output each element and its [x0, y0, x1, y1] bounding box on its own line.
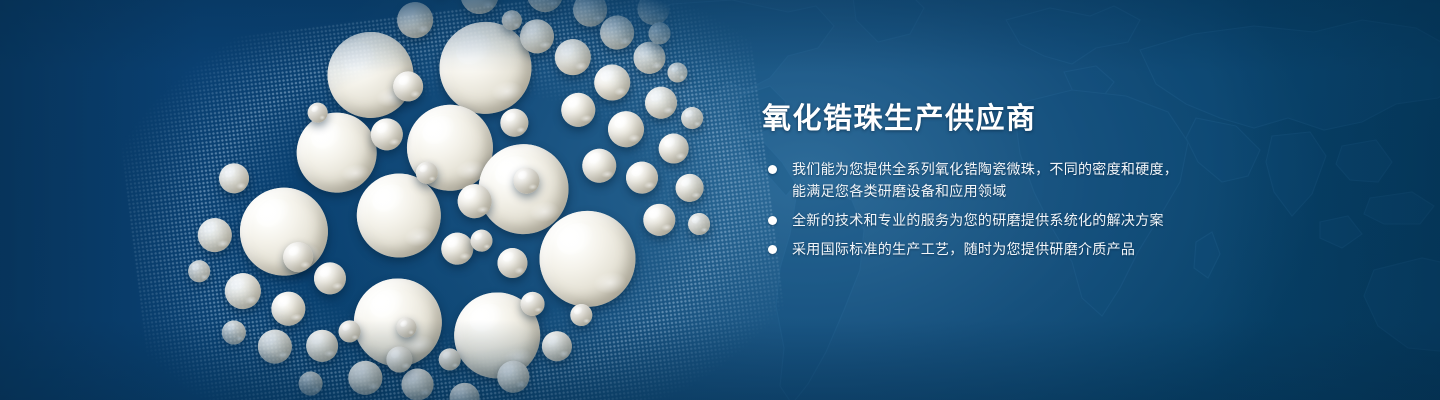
bead [687, 212, 712, 237]
bead [666, 61, 688, 83]
product-hero-banner: 氧化锆珠生产供应商 我们能为您提供全系列氧化锆陶瓷微珠，不同的密度和硬度， 能满… [0, 0, 1440, 400]
bead [553, 37, 593, 77]
banner-copy: 氧化锆珠生产供应商 我们能为您提供全系列氧化锆陶瓷微珠，不同的密度和硬度， 能满… [762, 104, 1382, 267]
bead [256, 328, 294, 366]
bead [540, 330, 573, 363]
bead [400, 367, 436, 400]
bullet-dot-icon [768, 216, 777, 225]
bead [297, 370, 324, 397]
bead [680, 106, 705, 131]
bead [395, 0, 435, 40]
bullet-dot-icon [768, 165, 777, 174]
bullet-line: 全新的技术和专业的服务为您的研磨提供系统化的解决方案 [792, 209, 1382, 231]
bead [606, 109, 646, 149]
bullet-line: 能满足您各类研磨设备和应用领域 [792, 180, 1382, 202]
bead [624, 160, 660, 196]
bead [304, 328, 340, 364]
bead [632, 40, 668, 76]
bead [525, 0, 565, 14]
bead [657, 132, 690, 165]
bullet-dot-icon [768, 245, 777, 254]
feature-bullet-item: 采用国际标准的生产工艺，随时为您提供研磨介质产品 [762, 238, 1382, 260]
zirconia-beads-photo [94, 0, 826, 400]
bead [220, 319, 247, 346]
bead [674, 172, 705, 203]
bead-cluster [94, 0, 826, 400]
bead [439, 231, 475, 267]
bead [312, 261, 348, 297]
bead [196, 216, 234, 254]
feature-bullet-item: 我们能为您提供全系列氧化锆陶瓷微珠，不同的密度和硬度， 能满足您各类研磨设备和应… [762, 158, 1382, 202]
bead [346, 359, 384, 397]
banner-title: 氧化锆珠生产供应商 [762, 104, 1382, 136]
bead [269, 290, 307, 328]
bead [641, 202, 677, 238]
feature-bullet-item: 全新的技术和专业的服务为您的研磨提供系统化的解决方案 [762, 209, 1382, 231]
bead [496, 246, 529, 279]
bead [223, 271, 263, 311]
bullet-line: 我们能为您提供全系列氧化锆陶瓷微珠，不同的密度和硬度， [792, 158, 1382, 180]
bead [292, 108, 381, 197]
bullet-line: 采用国际标准的生产工艺，随时为您提供研磨介质产品 [792, 238, 1382, 260]
bead [643, 85, 679, 121]
bead [580, 147, 618, 185]
bead [499, 107, 530, 138]
bead [217, 162, 250, 195]
feature-bullet-list: 我们能为您提供全系列氧化锆陶瓷微珠，不同的密度和硬度， 能满足您各类研磨设备和应… [762, 158, 1382, 260]
bead [592, 62, 632, 102]
bead [187, 259, 212, 284]
bead [448, 381, 481, 400]
bead [559, 91, 597, 129]
bead [458, 0, 500, 16]
